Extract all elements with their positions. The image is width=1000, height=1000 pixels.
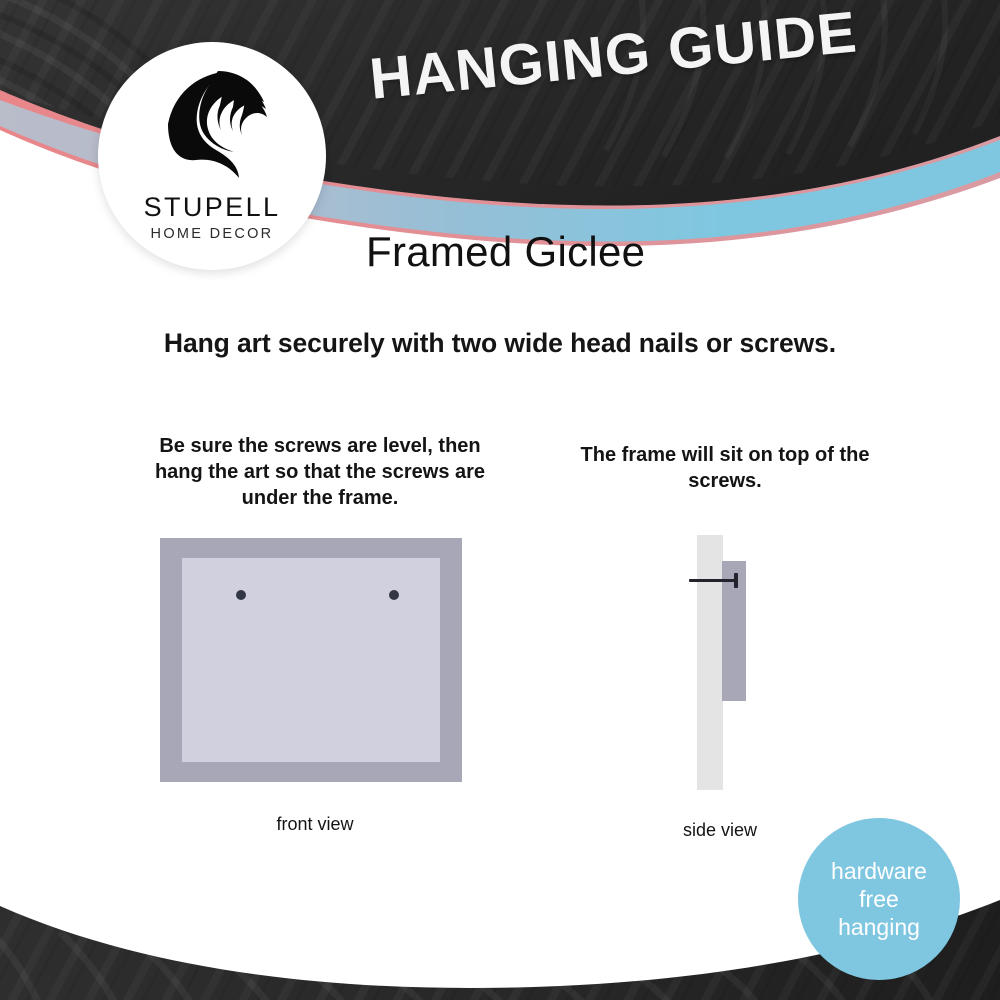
side-view-wall xyxy=(697,535,723,790)
brand-wordmark: STUPELL xyxy=(144,194,281,221)
product-type-heading: Framed Giclee xyxy=(366,228,645,276)
screw-dot-right xyxy=(389,590,399,600)
badge-line-1: hardware xyxy=(831,857,927,885)
side-view-label: side view xyxy=(615,820,825,841)
front-view-label: front view xyxy=(150,814,480,835)
side-view-diagram xyxy=(690,535,760,790)
hanging-guide-page: STUPELL HOME DECOR HANGING GUIDE Framed … xyxy=(0,0,1000,1000)
screw-head-icon xyxy=(734,573,738,588)
screw-shaft-icon xyxy=(689,579,736,582)
badge-line-2: free xyxy=(859,885,899,913)
side-view-caption: The frame will sit on top of the screws. xyxy=(575,442,875,494)
main-instruction-text: Hang art securely with two wide head nai… xyxy=(0,328,1000,359)
stupell-s-swirl-logo-icon xyxy=(156,68,268,186)
brand-logo-badge: STUPELL HOME DECOR xyxy=(98,42,326,270)
front-view-diagram xyxy=(160,538,462,782)
badge-line-3: hanging xyxy=(838,913,920,941)
hardware-free-hanging-badge: hardware free hanging xyxy=(798,818,960,980)
front-view-frame-interior xyxy=(182,558,440,762)
screw-dot-left xyxy=(236,590,246,600)
front-view-caption: Be sure the screws are level, then hang … xyxy=(150,433,490,511)
page-title: HANGING GUIDE xyxy=(367,0,871,113)
brand-subwordmark: HOME DECOR xyxy=(151,227,274,242)
